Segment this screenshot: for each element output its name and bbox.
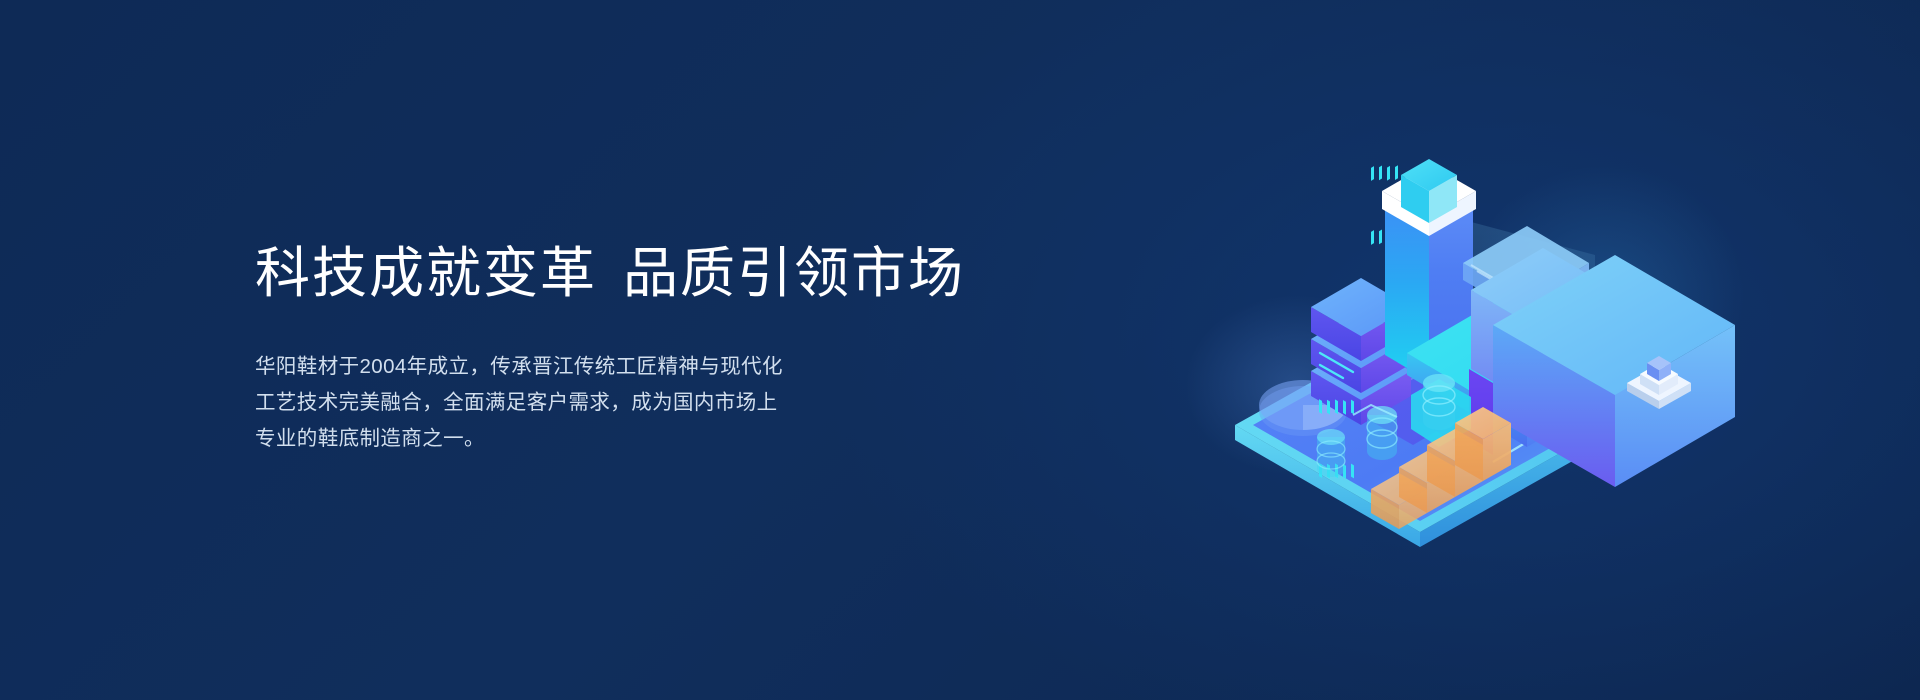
- beaker-small: [1317, 429, 1345, 477]
- description-line: 华阳鞋材于2004年成立，传承晋江传统工匠精神与现代化: [255, 349, 875, 385]
- cylinder-tall: [1423, 374, 1455, 430]
- isometric-factory-icon: [1175, 95, 1775, 575]
- hero-copy-block: 科技成就变革品质引领市场 华阳鞋材于2004年成立，传承晋江传统工匠精神与现代化…: [255, 240, 955, 457]
- hero-banner: 科技成就变革品质引领市场 华阳鞋材于2004年成立，传承晋江传统工匠精神与现代化…: [0, 0, 1920, 700]
- hero-description: 华阳鞋材于2004年成立，传承晋江传统工匠精神与现代化 工艺技术完美融合，全面满…: [255, 349, 875, 457]
- headline-segment-1: 科技成就变革: [255, 242, 597, 304]
- description-line: 专业的鞋底制造商之一。: [255, 421, 875, 457]
- description-line: 工艺技术完美融合，全面满足客户需求，成为国内市场上: [255, 385, 875, 421]
- hero-illustration: [1175, 95, 1775, 575]
- headline-segment-2: 品质引领市场: [623, 242, 965, 304]
- page-title: 科技成就变革品质引领市场: [255, 240, 955, 307]
